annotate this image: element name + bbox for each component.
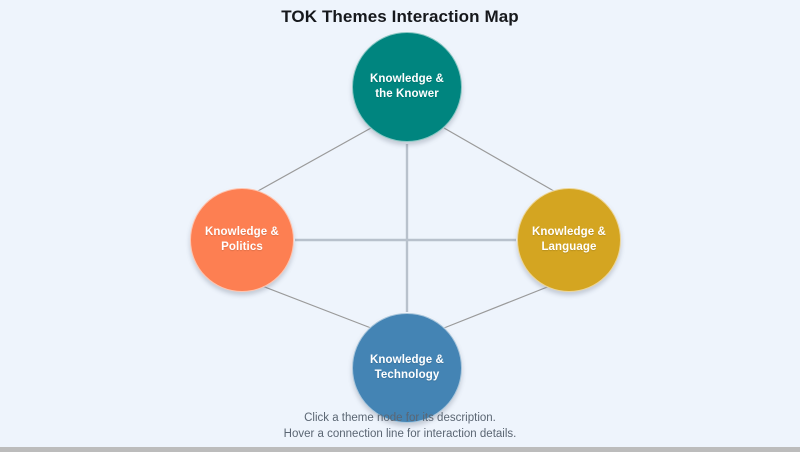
page-title: TOK Themes Interaction Map bbox=[0, 7, 800, 27]
theme-node-label-line2: Politics bbox=[221, 241, 263, 253]
theme-node-knowledge-and-technology[interactable]: Knowledge &Technology bbox=[352, 313, 462, 423]
theme-node-knowledge-and-politics[interactable]: Knowledge &Politics bbox=[190, 188, 294, 292]
theme-node-label-line1: Knowledge & bbox=[370, 73, 444, 85]
theme-node-label-line2: Language bbox=[541, 241, 596, 253]
theme-node-knowledge-and-the-knower[interactable]: Knowledge &the Knower bbox=[352, 32, 462, 142]
theme-node-label-line2: Technology bbox=[375, 369, 440, 381]
theme-node-label: Knowledge &Language bbox=[523, 225, 615, 255]
theme-node-label-line2: the Knower bbox=[375, 88, 439, 100]
theme-node-label-line1: Knowledge & bbox=[370, 354, 444, 366]
theme-node-label: Knowledge &Technology bbox=[361, 353, 453, 383]
footer-hint-line2: Hover a connection line for interaction … bbox=[0, 426, 800, 442]
tok-themes-interaction-map: TOK Themes Interaction Map Knowledge &th… bbox=[0, 0, 800, 452]
diagram-canvas: Knowledge &the Knower Knowledge &Politic… bbox=[0, 28, 800, 406]
footer-hint-line1: Click a theme node for its description. bbox=[0, 410, 800, 426]
theme-node-label: Knowledge &Politics bbox=[196, 225, 288, 255]
theme-node-label-line1: Knowledge & bbox=[205, 226, 279, 238]
footer-hint: Click a theme node for its description. … bbox=[0, 410, 800, 442]
horizontal-scrollbar[interactable] bbox=[0, 447, 800, 452]
theme-node-label: Knowledge &the Knower bbox=[361, 72, 453, 102]
theme-node-label-line1: Knowledge & bbox=[532, 226, 606, 238]
theme-node-knowledge-and-language[interactable]: Knowledge &Language bbox=[517, 188, 621, 292]
